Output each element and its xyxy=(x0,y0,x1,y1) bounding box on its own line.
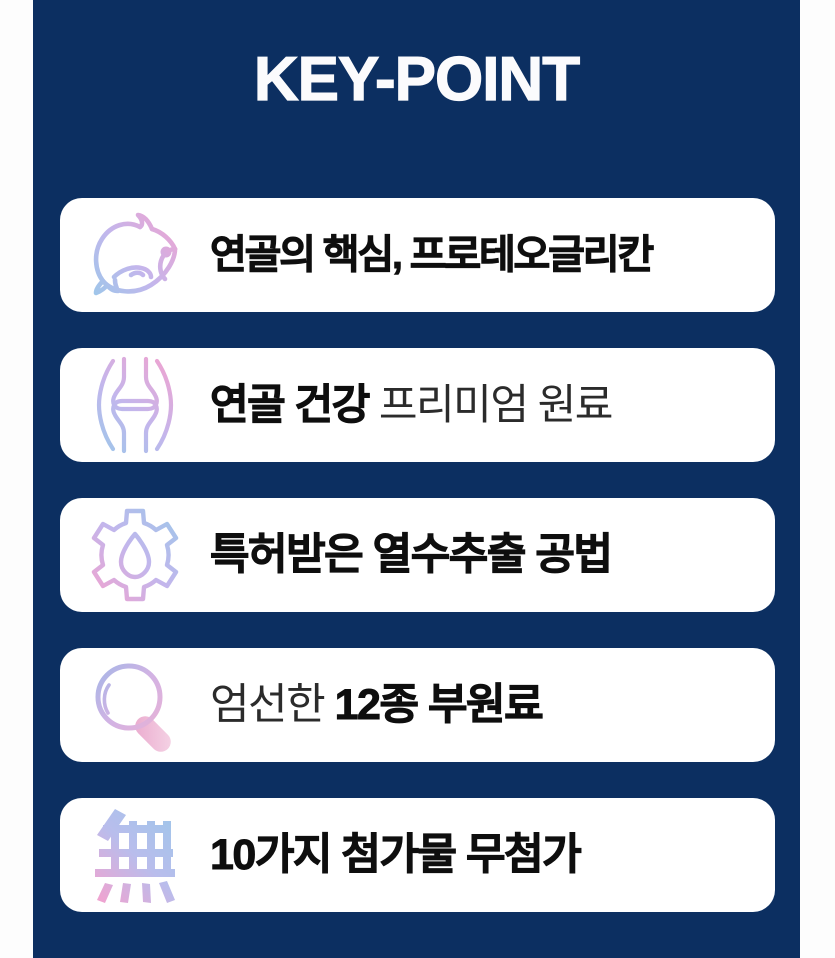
label-segment: 10가지 첨가물 무첨가 xyxy=(210,831,580,879)
key-point-card-label: 연골의 핵심, 프로테오글리칸 xyxy=(210,230,775,280)
key-point-card-label: 10가지 첨가물 무첨가 xyxy=(210,830,775,880)
label-segment: 연골의 핵심, 프로테오글리칸 xyxy=(210,233,652,277)
knee-joint-icon xyxy=(60,348,210,462)
key-point-card[interactable]: 특허받은 열수추출 공법 xyxy=(60,498,775,612)
key-point-card[interactable]: 엄선한 12종 부원료 xyxy=(60,648,775,762)
gear-droplet-icon xyxy=(60,498,210,612)
key-point-card[interactable]: 연골 건강 프리미엄 원료 xyxy=(60,348,775,462)
label-segment: 연골 건강 xyxy=(210,381,369,428)
fish-icon xyxy=(60,198,210,312)
key-point-card-label: 특허받은 열수추출 공법 xyxy=(210,530,775,580)
label-segment: 엄선한 xyxy=(210,681,335,729)
key-point-card[interactable]: 연골의 핵심, 프로테오글리칸 xyxy=(60,198,775,312)
label-segment: 프리미엄 원료 xyxy=(369,381,612,428)
key-point-card-list: 연골의 핵심, 프로테오글리칸 xyxy=(60,198,775,948)
page-title: KEY-POINT xyxy=(33,44,800,116)
key-point-card-label: 연골 건강 프리미엄 원료 xyxy=(210,380,775,430)
mu-kanji-no-additives-icon xyxy=(60,798,210,912)
magnifier-icon xyxy=(60,648,210,762)
label-segment: 특허받은 열수추출 공법 xyxy=(210,531,612,579)
key-point-infographic: KEY-POINT xyxy=(0,0,835,958)
key-point-card-label: 엄선한 12종 부원료 xyxy=(210,680,775,730)
label-segment: 12종 부원료 xyxy=(335,681,543,729)
key-point-card[interactable]: 10가지 첨가물 무첨가 xyxy=(60,798,775,912)
